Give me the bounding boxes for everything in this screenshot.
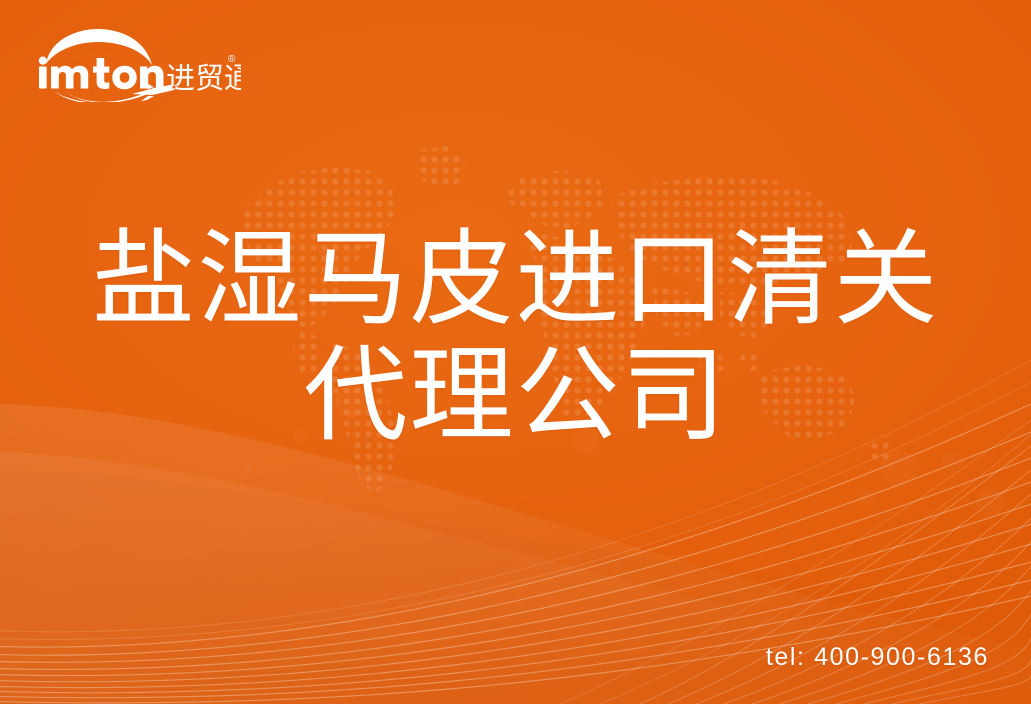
trademark-icon: ® <box>228 54 236 65</box>
brand-logo[interactable]: 进贸通 ® <box>36 28 241 102</box>
logo-chinese-name: 进贸通 <box>166 61 241 95</box>
headline-line-2: 代理公司 <box>0 338 1031 454</box>
headline-line-1: 盐湿马皮进口清关 <box>0 222 1031 338</box>
logo-artwork: 进贸通 ® <box>36 28 241 102</box>
page-title: 盐湿马皮进口清关 代理公司 <box>0 222 1031 454</box>
poster-canvas: 进贸通 ® 盐湿马皮进口清关 代理公司 tel: 400-900-6136 <box>0 0 1031 704</box>
contact-phone[interactable]: tel: 400-900-6136 <box>766 643 989 672</box>
